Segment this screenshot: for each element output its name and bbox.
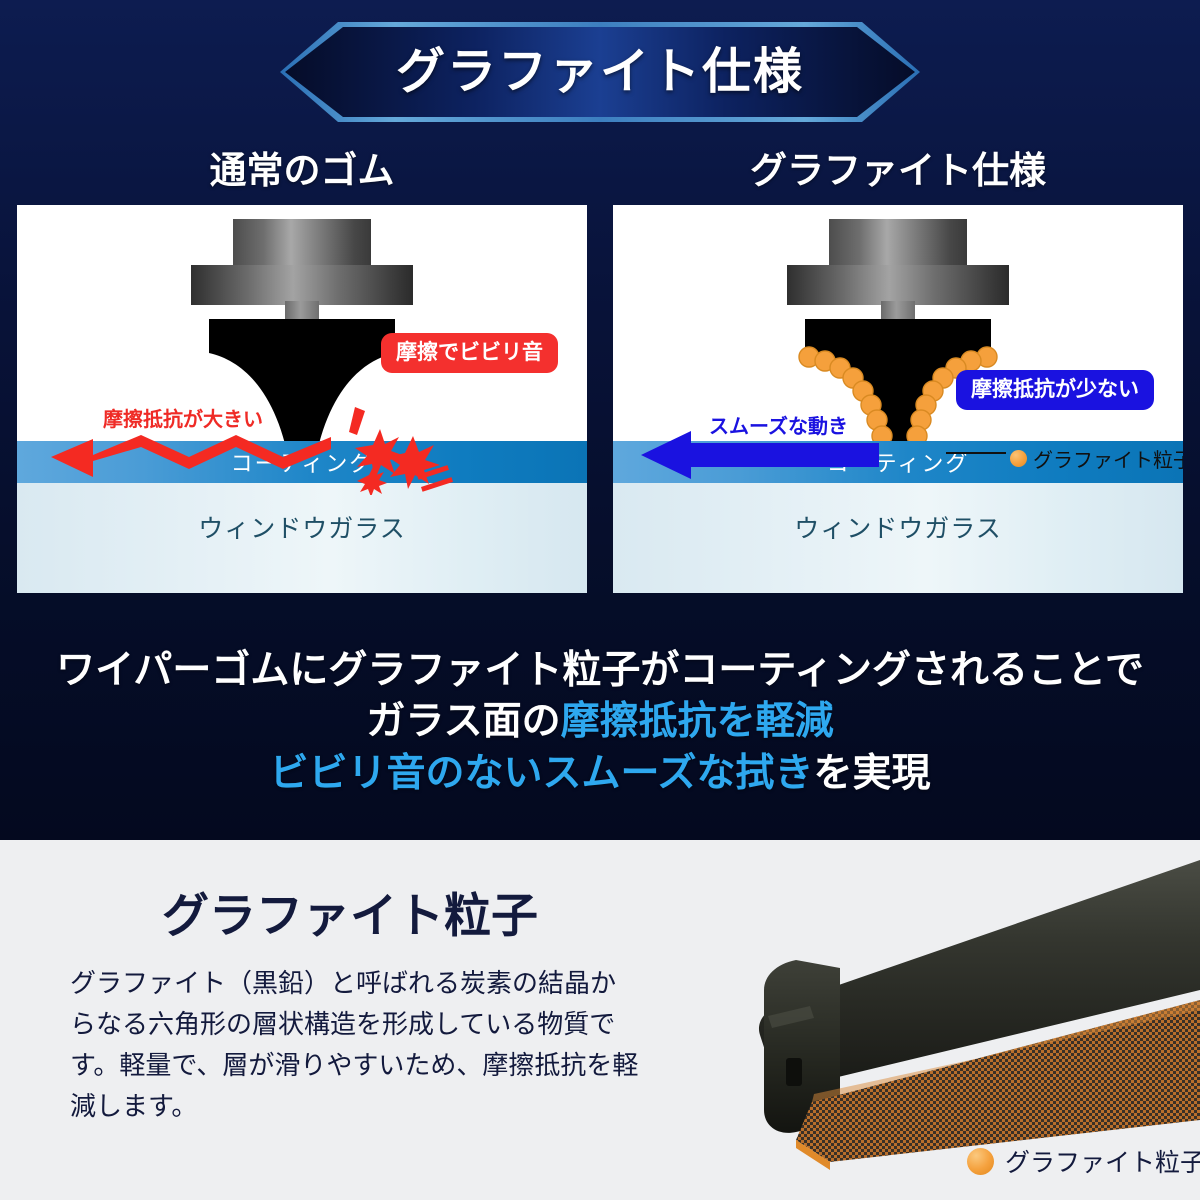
glass-label-normal: ウィンドウガラス (198, 515, 406, 543)
infographic-page: グラファイト仕様 通常のゴム (0, 0, 1200, 1200)
summary-line-3-tail: を実現 (814, 752, 931, 795)
graphite-description-block: グラファイト粒子 グラファイト（黒鉛）と呼ばれる炭素の結晶からなる六角形の層状構… (60, 892, 640, 1127)
panel-heading-graphite: グラファイト仕様 (613, 152, 1183, 189)
summary-line-3-highlight-1: ビビリ音のない (269, 752, 542, 795)
top-section: グラファイト仕様 通常のゴム (0, 0, 1200, 840)
photo-legend-label: グラファイト粒子 (1005, 1143, 1200, 1179)
summary-line-2-plain: ガラス面の (366, 700, 560, 743)
photo-particle-legend: グラファイト粒子 (967, 1143, 1200, 1179)
panel-card-normal: コーティング ウィンドウガラス 摩擦でビビリ音 摩擦抵抗が大きい (17, 205, 587, 593)
summary-line-2: ガラス面の摩擦抵抗を軽減 (0, 696, 1200, 747)
summary-line-3: ビビリ音のないスムーズな拭きを実現 (0, 748, 1200, 799)
summary-line-2-highlight: 摩擦抵抗を軽減 (561, 700, 834, 743)
panel-heading-normal: 通常のゴム (17, 152, 587, 189)
summary-line-3-highlight-2: スムーズな拭き (542, 752, 813, 795)
spark-lines-icon (343, 405, 463, 495)
panel-card-graphite: コーティング ウィンドウガラス 摩擦抵抗が少ない スムーズな動き (613, 205, 1183, 593)
glass-layer-normal: ウィンドウガラス (17, 483, 587, 593)
wiper-holder-flange (191, 265, 413, 305)
panel-normal-rubber: 通常のゴム コーティング ウィンドウガラス (17, 152, 587, 593)
title-banner: グラファイト仕様 (280, 22, 920, 122)
wiper-holder-flange-graphite (787, 265, 1009, 305)
particle-legend: グラファイト粒子 (1010, 444, 1183, 473)
panel-graphite: グラファイト仕様 (613, 152, 1183, 593)
photo-graphite-dot-icon (967, 1148, 994, 1175)
graphite-particle-dot-icon (1010, 450, 1027, 467)
banner-fill-shape: グラファイト仕様 (285, 27, 915, 117)
glass-layer-graphite: ウィンドウガラス (613, 483, 1183, 593)
bottom-body-text: グラファイト（黒鉛）と呼ばれる炭素の結晶からなる六角形の層状構造を形成している物… (60, 963, 640, 1127)
straight-arrow-icon (627, 427, 927, 483)
summary-line-1: ワイパーゴムにグラファイト粒子がコーティングされることで (0, 645, 1200, 696)
comparison-panels: 通常のゴム コーティング ウィンドウガラス (0, 152, 1200, 593)
badge-friction-noise: 摩擦でビビリ音 (381, 333, 558, 373)
badge-low-friction: 摩擦抵抗が少ない (956, 370, 1154, 410)
particle-legend-leader-line (946, 452, 1006, 454)
summary-copy: ワイパーゴムにグラファイト粒子がコーティングされることで ガラス面の摩擦抵抗を軽… (0, 645, 1200, 799)
glass-label-graphite: ウィンドウガラス (794, 515, 1002, 543)
particle-legend-label: グラファイト粒子 (1033, 444, 1183, 473)
page-title: グラファイト仕様 (396, 48, 804, 97)
bottom-heading: グラファイト粒子 (60, 892, 640, 939)
zigzag-arrow-icon (31, 427, 331, 483)
